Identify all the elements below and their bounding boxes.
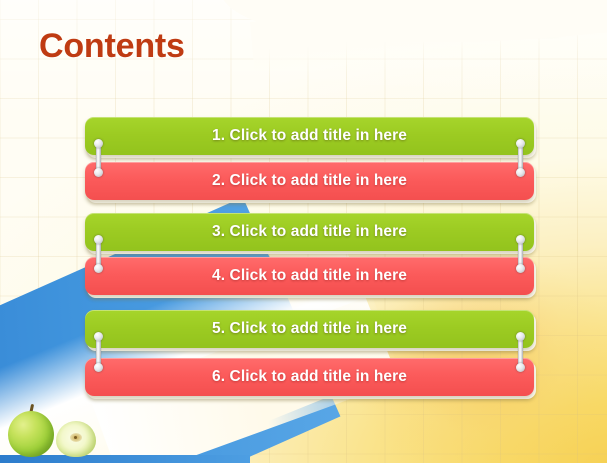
content-bar-6[interactable]: 6. Click to add title in here [85,358,534,396]
content-bar-2-label: 2. Click to add title in here [212,172,407,190]
content-bar-3[interactable]: 3. Click to add title in here [85,213,534,251]
content-bar-1-label: 1. Click to add title in here [212,127,407,145]
content-bar-5-label: 5. Click to add title in here [212,320,407,338]
rivet-connector-left-pair-3 [94,332,103,372]
rivet-connector-right-pair-1 [516,139,525,177]
rivet-connector-right-pair-2 [516,235,525,273]
contents-list: 1. Click to add title in here 2. Click t… [0,0,607,463]
content-bar-2[interactable]: 2. Click to add title in here [85,162,534,200]
content-bar-6-label: 6. Click to add title in here [212,368,407,386]
content-bar-4[interactable]: 4. Click to add title in here [85,257,534,295]
rivet-connector-left-pair-2 [94,235,103,273]
content-bar-3-label: 3. Click to add title in here [212,223,407,241]
rivet-connector-left-pair-1 [94,139,103,177]
content-bar-5[interactable]: 5. Click to add title in here [85,310,534,348]
content-bar-1[interactable]: 1. Click to add title in here [85,117,534,155]
rivet-connector-right-pair-3 [516,332,525,372]
content-bar-4-label: 4. Click to add title in here [212,267,407,285]
slide-canvas: Contents 1. Click to add title in here 2… [0,0,607,463]
